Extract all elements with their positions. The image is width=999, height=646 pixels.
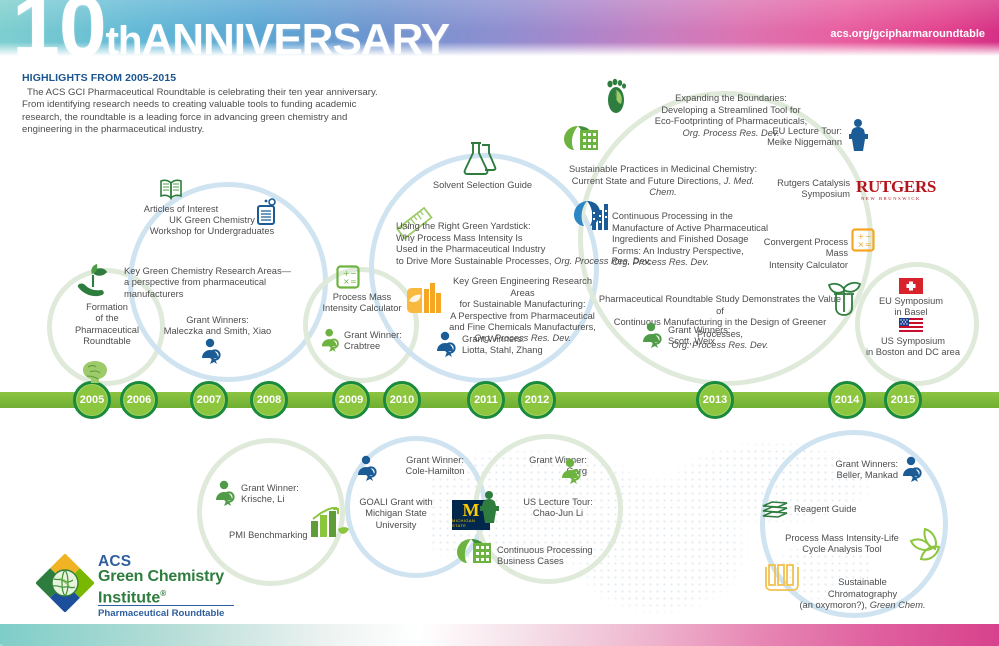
sustainable-practices-text: Sustainable Practices in Medicinal Chemi…: [568, 153, 758, 199]
grant-winner-award-icon-2015-lower: [901, 456, 925, 482]
eu-symposium-text: EU Symposium in Basel: [859, 296, 963, 319]
pmi-lca-tool-text: Process Mass Intensity-Life Cycle Analys…: [772, 533, 912, 556]
logo-divider: [98, 605, 234, 606]
rutgers-campus: NEW BRUNSWICK: [856, 196, 926, 201]
us-flag-icon: [899, 318, 923, 334]
grant-scott-weix-text: Grant Winners: Scott, Weix: [668, 325, 778, 348]
svg-text:=: =: [350, 277, 357, 286]
bar-chart-leaf-icon: [309, 507, 349, 539]
plant-in-test-tube-icon: [827, 272, 861, 316]
green-chemistry-label: Green Chemistry: [98, 569, 224, 585]
continuous-processing-api-journal: Org. Process Res. Dev.: [612, 257, 709, 267]
year-badge-2013[interactable]: 2013: [696, 381, 734, 419]
rutgers-logo: RUTGERS NEW BRUNSWICK: [856, 178, 926, 201]
key-green-eng-main: Key Green Engineering Research Areas for…: [449, 276, 596, 332]
eu-lecture-tour-text: EU Lecture Tour: Meike Niggemann: [742, 126, 842, 149]
green-yardstick-main: Using the Right Green Yardstick: Why Pro…: [396, 221, 554, 265]
brain-idea-icon: [78, 358, 112, 388]
institute-label: Institute®: [98, 585, 224, 606]
grant-winner-award-icon-2013: [641, 322, 665, 348]
open-book-icon: [158, 178, 184, 200]
continuous-processing-business-text: Continuous Processing Business Cases: [497, 545, 615, 568]
year-badge-2010[interactable]: 2010: [383, 381, 421, 419]
grant-beller-text: Grant Winners: Beller, Mankad: [800, 459, 898, 482]
year-badge-2015[interactable]: 2015: [884, 381, 922, 419]
grant-cole-hamilton-text: Grant Winner: Cole-Hamilton: [381, 455, 489, 478]
footer-facet-texture: [0, 624, 999, 646]
grant-winner-award-icon-2011: [435, 331, 459, 357]
recycle-leaves-icon: [905, 525, 945, 565]
lecture-podium-icon-us: [476, 490, 504, 524]
lecture-podium-icon: [845, 118, 873, 152]
grant-winner-award-icon-2007-lower: [214, 480, 238, 506]
acs-label: ACS: [98, 554, 224, 569]
erlenmeyer-flask-icon: [459, 140, 499, 176]
grant-winner-award-icon-2012-lower: [560, 458, 584, 484]
us-symposium-text: US Symposium in Boston and DC area: [851, 336, 975, 359]
key-green-eng-research-text: Key Green Engineering Research Areas for…: [440, 265, 605, 345]
sustainable-chromatography-journal: Green Chem.: [870, 600, 926, 610]
year-badge-2009[interactable]: 2009: [332, 381, 370, 419]
uk-workshop-text: UK Green Chemistry Workshop for Undergra…: [137, 215, 287, 238]
year-badge-2008[interactable]: 2008: [250, 381, 288, 419]
grant-winner-award-icon-2009: [320, 328, 342, 352]
svg-text:=: =: [865, 240, 872, 249]
goali-grant-text: GOALI Grant with Michigan State Universi…: [344, 497, 448, 531]
grant-crabtree-text: Grant Winner: Crabtree: [344, 330, 434, 353]
stacked-books-icon: [760, 500, 790, 522]
registered-mark: ®: [160, 589, 166, 598]
infographic-page: 10thANNIVERSARY acs.org/gcipharmaroundta…: [0, 0, 999, 646]
year-badge-2007[interactable]: 2007: [190, 381, 228, 419]
key-green-chem-research-text: Key Green Chemistry Research Areas— a pe…: [124, 266, 302, 300]
year-badge-2006[interactable]: 2006: [120, 381, 158, 419]
calculator-icon-2009: + − × =: [336, 265, 360, 289]
grant-liotta-text: Grant Winners: Liotta, Stahl, Zhang: [462, 334, 582, 357]
reagent-guide-text: Reagent Guide: [794, 504, 894, 515]
swiss-flag-icon: [899, 278, 923, 294]
calculator-icon-2014: + − × =: [851, 228, 875, 252]
acs-logo-text: ACS Green Chemistry Institute®: [98, 554, 224, 606]
leaf-factory-blue-icon: [573, 198, 613, 234]
rutgers-wordmark: RUTGERS: [856, 178, 926, 195]
articles-of-interest-text: Articles of Interest: [110, 204, 252, 215]
svg-text:×: ×: [858, 240, 865, 249]
convergent-pmi-text: Convergent Process Mass Intensity Calcul…: [740, 237, 848, 271]
acs-gci-logo[interactable]: ACS Green Chemistry Institute® Pharmaceu…: [36, 552, 236, 618]
grant-maleczka-text: Grant Winners: Maleczka and Smith, Xiao: [140, 315, 295, 338]
year-badge-2012[interactable]: 2012: [518, 381, 556, 419]
intro-body: The ACS GCI Pharmaceutical Roundtable is…: [22, 87, 387, 136]
footer-band: [0, 624, 999, 646]
leaf-building-green-icon: [562, 122, 600, 154]
leaf-building-green-icon-lower: [455, 535, 493, 567]
institute-word: Institute: [98, 589, 160, 606]
acs-diamond-globe-icon: [36, 554, 94, 612]
intro-title: HIGHLIGHTS FROM 2005-2015: [22, 72, 387, 84]
rutgers-symposium-text: Rutgers Catalysis Symposium: [760, 178, 850, 201]
header-banner: 10thANNIVERSARY acs.org/gcipharmaroundta…: [0, 0, 999, 56]
year-badge-2011[interactable]: 2011: [467, 381, 505, 419]
us-lecture-tour-text: US Lecture Tour: Chao-Jun Li: [502, 497, 614, 520]
grant-krische-text: Grant Winner: Krische, Li: [241, 483, 351, 506]
grant-winner-award-icon-2010-lower: [356, 455, 380, 481]
website-url[interactable]: acs.org/gcipharmaroundtable: [830, 28, 985, 40]
svg-text:×: ×: [343, 277, 350, 286]
year-badge-2014[interactable]: 2014: [828, 381, 866, 419]
solvent-selection-guide-text: Solvent Selection Guide: [410, 180, 555, 191]
intro-block: HIGHLIGHTS FROM 2005-2015 The ACS GCI Ph…: [22, 72, 387, 136]
expanding-boundaries-main: Expanding the Boundaries: Developing a S…: [655, 93, 807, 126]
grant-winner-award-icon-2007: [200, 338, 224, 364]
sustainable-chromatography-text: Sustainable Chromatography (an oxymoron?…: [790, 566, 935, 612]
pharmaceutical-roundtable-label: Pharmaceutical Roundtable: [98, 608, 224, 619]
banner-bottom-fade: [0, 42, 999, 56]
